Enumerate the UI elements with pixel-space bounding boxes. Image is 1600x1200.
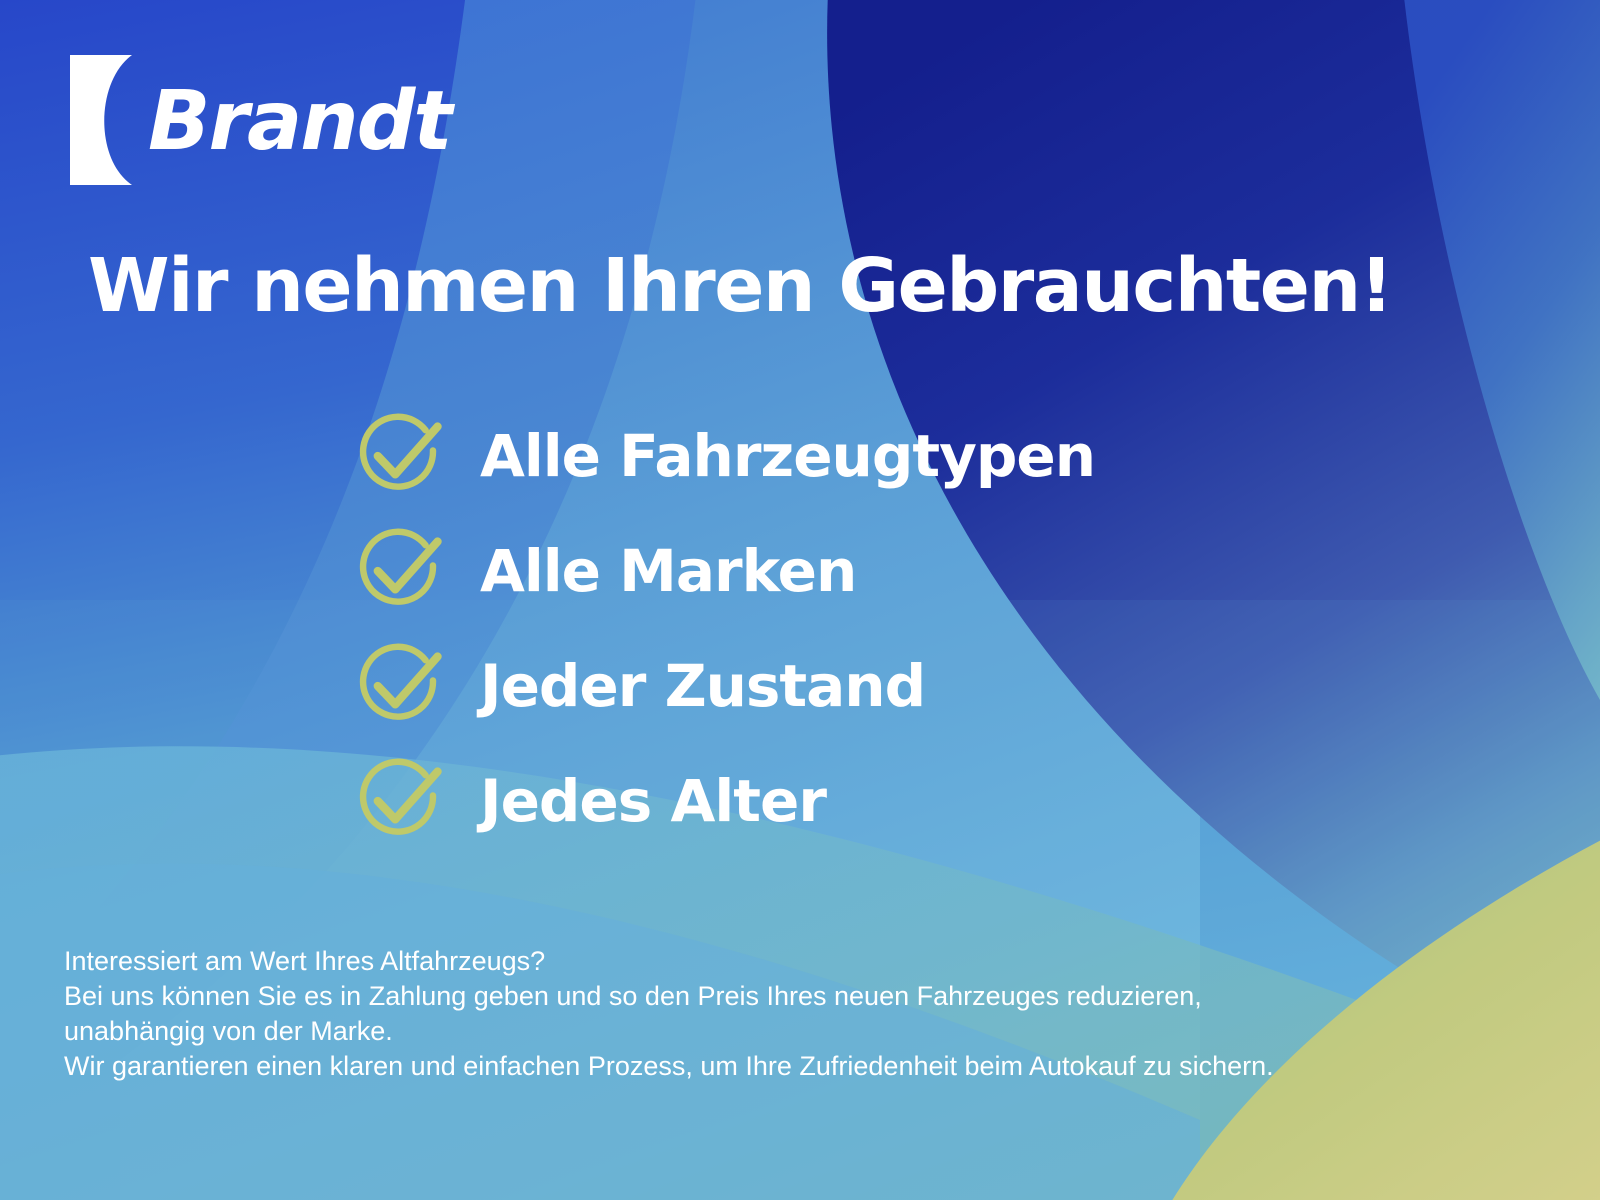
check-circle-icon	[352, 410, 444, 502]
benefit-label: Jedes Alter	[480, 767, 826, 835]
list-item: Jeder Zustand	[352, 628, 1095, 743]
brandt-bracket-mark-icon	[70, 55, 142, 185]
poster-content: Brandt Wir nehmen Ihren Gebrauchten! All…	[0, 0, 1600, 1200]
footer-line: Interessiert am Wert Ihres Altfahrzeugs?	[64, 944, 1544, 979]
check-circle-icon	[352, 755, 444, 847]
list-item: Alle Fahrzeugtypen	[352, 398, 1095, 513]
check-circle-icon	[352, 640, 444, 732]
list-item: Jedes Alter	[352, 743, 1095, 858]
footer-line: unabhängig von der Marke.	[64, 1014, 1544, 1049]
footer-line: Bei uns können Sie es in Zahlung geben u…	[64, 979, 1544, 1014]
page-title: Wir nehmen Ihren Gebrauchten!	[88, 248, 1508, 326]
benefit-label: Alle Fahrzeugtypen	[480, 422, 1095, 490]
brand-logo: Brandt	[70, 55, 451, 185]
list-item: Alle Marken	[352, 513, 1095, 628]
benefit-label: Jeder Zustand	[480, 652, 925, 720]
promo-poster: Brandt Wir nehmen Ihren Gebrauchten! All…	[0, 0, 1600, 1200]
brand-name: Brandt	[148, 81, 451, 163]
benefit-label: Alle Marken	[480, 537, 856, 605]
check-circle-icon	[352, 525, 444, 617]
footer-line: Wir garantieren einen klaren und einfach…	[64, 1049, 1544, 1084]
benefit-list: Alle Fahrzeugtypen Alle Marken Jeder Zus…	[352, 398, 1095, 858]
footer-text: Interessiert am Wert Ihres Altfahrzeugs?…	[64, 944, 1544, 1084]
